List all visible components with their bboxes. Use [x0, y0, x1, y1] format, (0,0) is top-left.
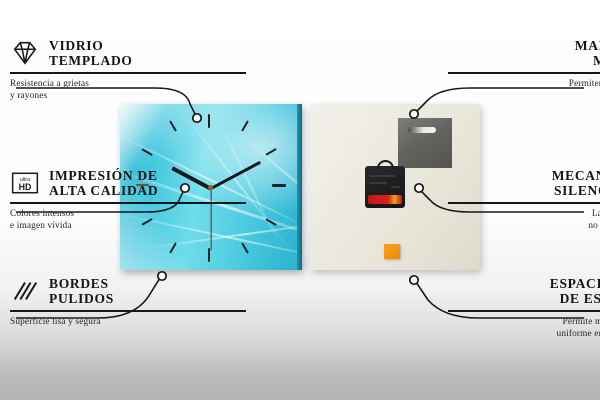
- feature-manejas-metal[interactable]: MANEJAS METAL Permiten una fácil instala…: [448, 38, 600, 103]
- clock-tick: [208, 114, 210, 128]
- battery-label: [368, 195, 402, 204]
- clock-tick: [241, 120, 249, 132]
- glass-edge: [297, 104, 302, 270]
- svg-text:HD: HD: [19, 182, 32, 192]
- feature-title: IMPRESIÓN DE ALTA CALIDAD: [49, 168, 158, 198]
- polished-edges-icon: [10, 276, 40, 306]
- feature-description: Superficie lisa y segura: [10, 317, 246, 329]
- feature-bordes-pulidos[interactable]: BORDES PULIDOS Superficie lisa y segura: [10, 276, 246, 329]
- callout-node-espaciador: [410, 276, 418, 284]
- feature-divider: [10, 202, 246, 204]
- feature-divider: [448, 202, 600, 204]
- feature-vidrio-templado[interactable]: VIDRIO TEMPLADO Resistencia a grietas y …: [10, 38, 246, 103]
- clock-tick: [272, 184, 286, 187]
- feature-title: ESPACIADOR DE ESPUMA: [550, 276, 600, 306]
- clock-tick: [265, 148, 277, 156]
- feature-title: VIDRIO TEMPLADO: [49, 38, 133, 68]
- clock-tick: [241, 242, 249, 254]
- feature-title: BORDES PULIDOS: [49, 276, 114, 306]
- feature-description: Las manecillas del reloj no emiten ningú…: [448, 209, 600, 233]
- clock-tick: [169, 120, 177, 132]
- feature-description: Permiten una fácil instalación del reloj…: [448, 79, 600, 103]
- feature-impresion-alta-calidad[interactable]: ultra HD IMPRESIÓN DE ALTA CALIDAD Color…: [10, 168, 246, 233]
- feature-divider: [10, 72, 246, 74]
- feature-description: Resistencia a grietas y rayones: [10, 79, 246, 103]
- diamond-icon: [10, 38, 40, 68]
- mechanism-hanger-loop: [377, 160, 394, 169]
- feature-divider: [448, 310, 600, 312]
- feature-title: MANEJAS METAL: [575, 38, 600, 68]
- ultra-hd-icon: ultra HD: [10, 168, 40, 198]
- feature-divider: [10, 310, 246, 312]
- feature-title: MECANISMO SILENCIOSO: [552, 168, 600, 198]
- clock-mechanism: [365, 166, 405, 208]
- hanger-slot: [408, 127, 436, 133]
- metal-hanger-plate: [398, 118, 452, 168]
- feature-divider: [448, 72, 600, 74]
- foam-spacer: [384, 244, 400, 259]
- feature-espaciador-espuma[interactable]: ESPACIADOR DE ESPUMA Permite mantener un…: [448, 276, 600, 341]
- feature-description: Permite mantener una distancia uniforme …: [448, 317, 600, 341]
- feature-mecanismo-silencioso[interactable]: MECANISMO SILENCIOSO Las manecillas del …: [448, 168, 600, 233]
- feature-description: Colores intensos e imagen vívida: [10, 209, 246, 233]
